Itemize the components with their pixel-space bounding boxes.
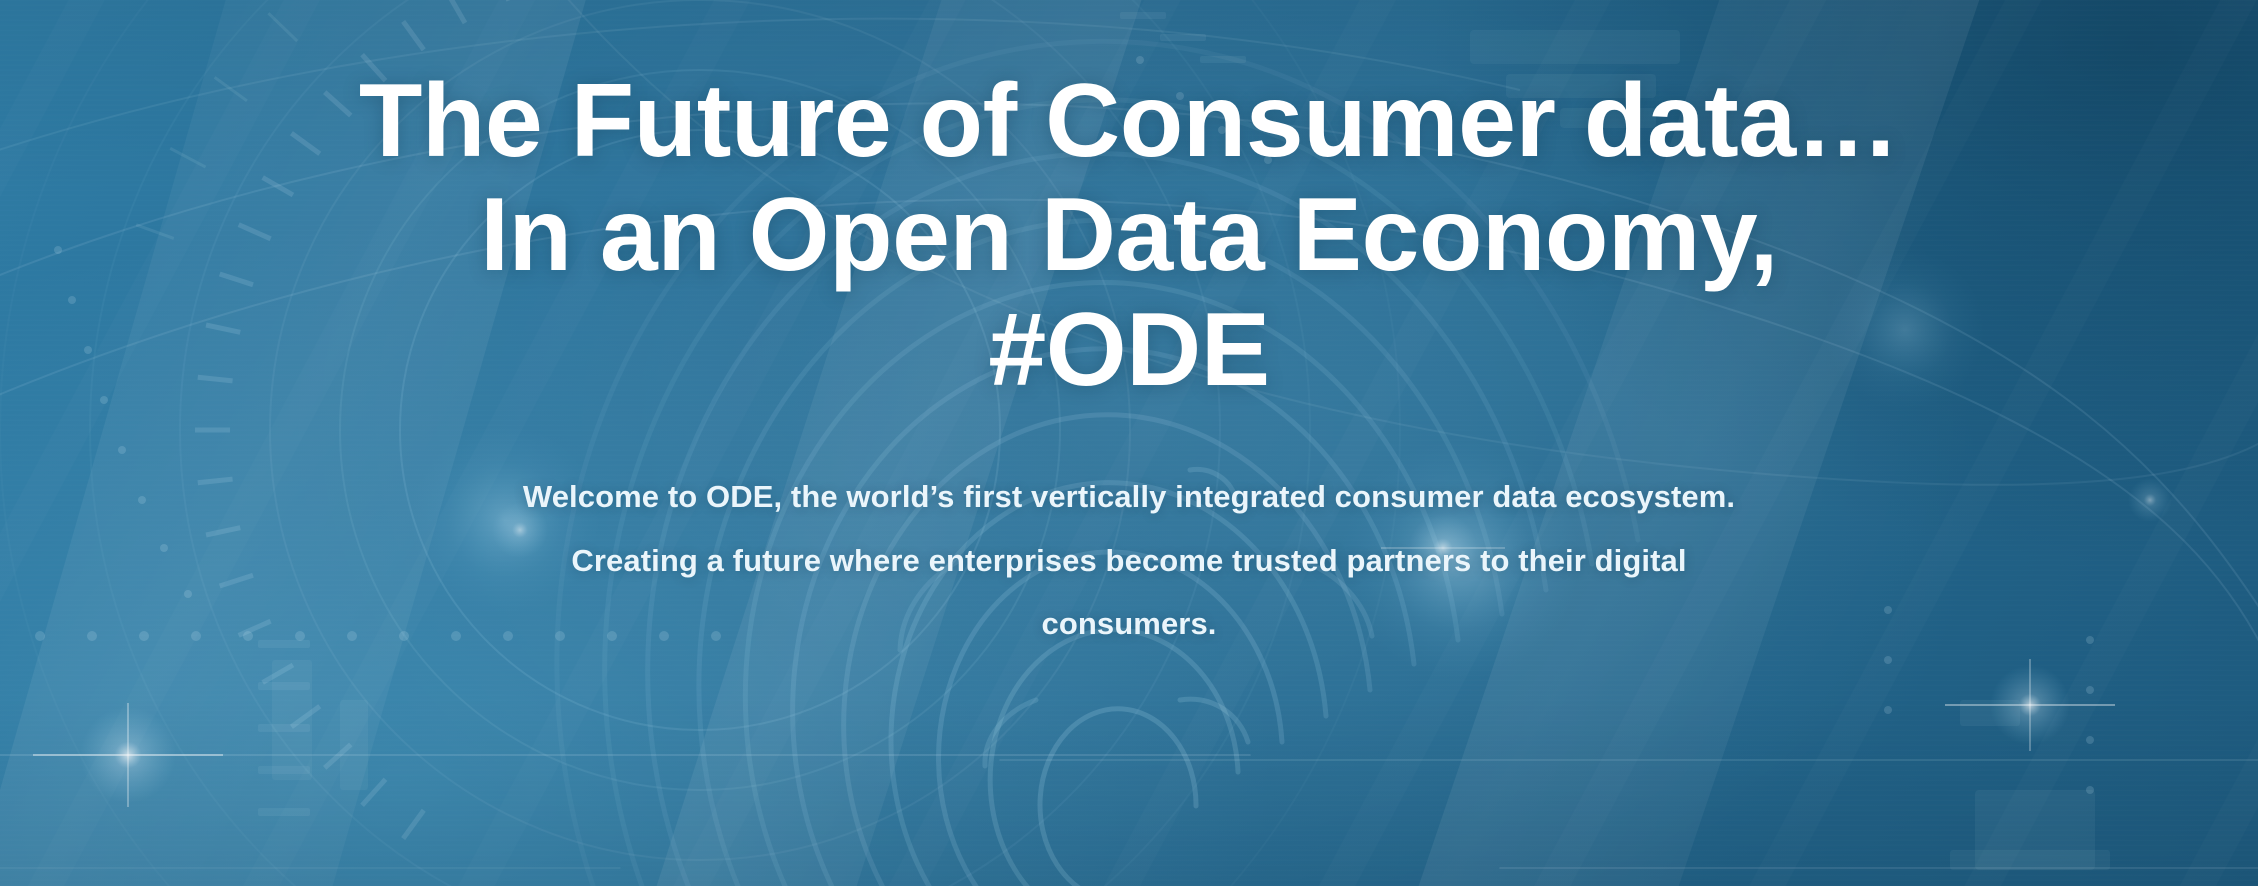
headline-line-2: In an Open Data Economy, (359, 178, 1899, 292)
subtitle-line-3: consumers. (523, 592, 1735, 656)
subtitle-line-2: Creating a future where enterprises beco… (523, 529, 1735, 593)
subtitle-line-1: Welcome to ODE, the world’s first vertic… (523, 465, 1735, 529)
hero-content: The Future of Consumer data… In an Open … (0, 0, 2258, 886)
headline-line-3: #ODE (359, 293, 1899, 407)
headline-line-1: The Future of Consumer data… (359, 64, 1899, 178)
hero-banner: The Future of Consumer data… In an Open … (0, 0, 2258, 886)
hero-subtitle: Welcome to ODE, the world’s first vertic… (523, 465, 1735, 656)
page-title: The Future of Consumer data… In an Open … (359, 64, 1899, 407)
